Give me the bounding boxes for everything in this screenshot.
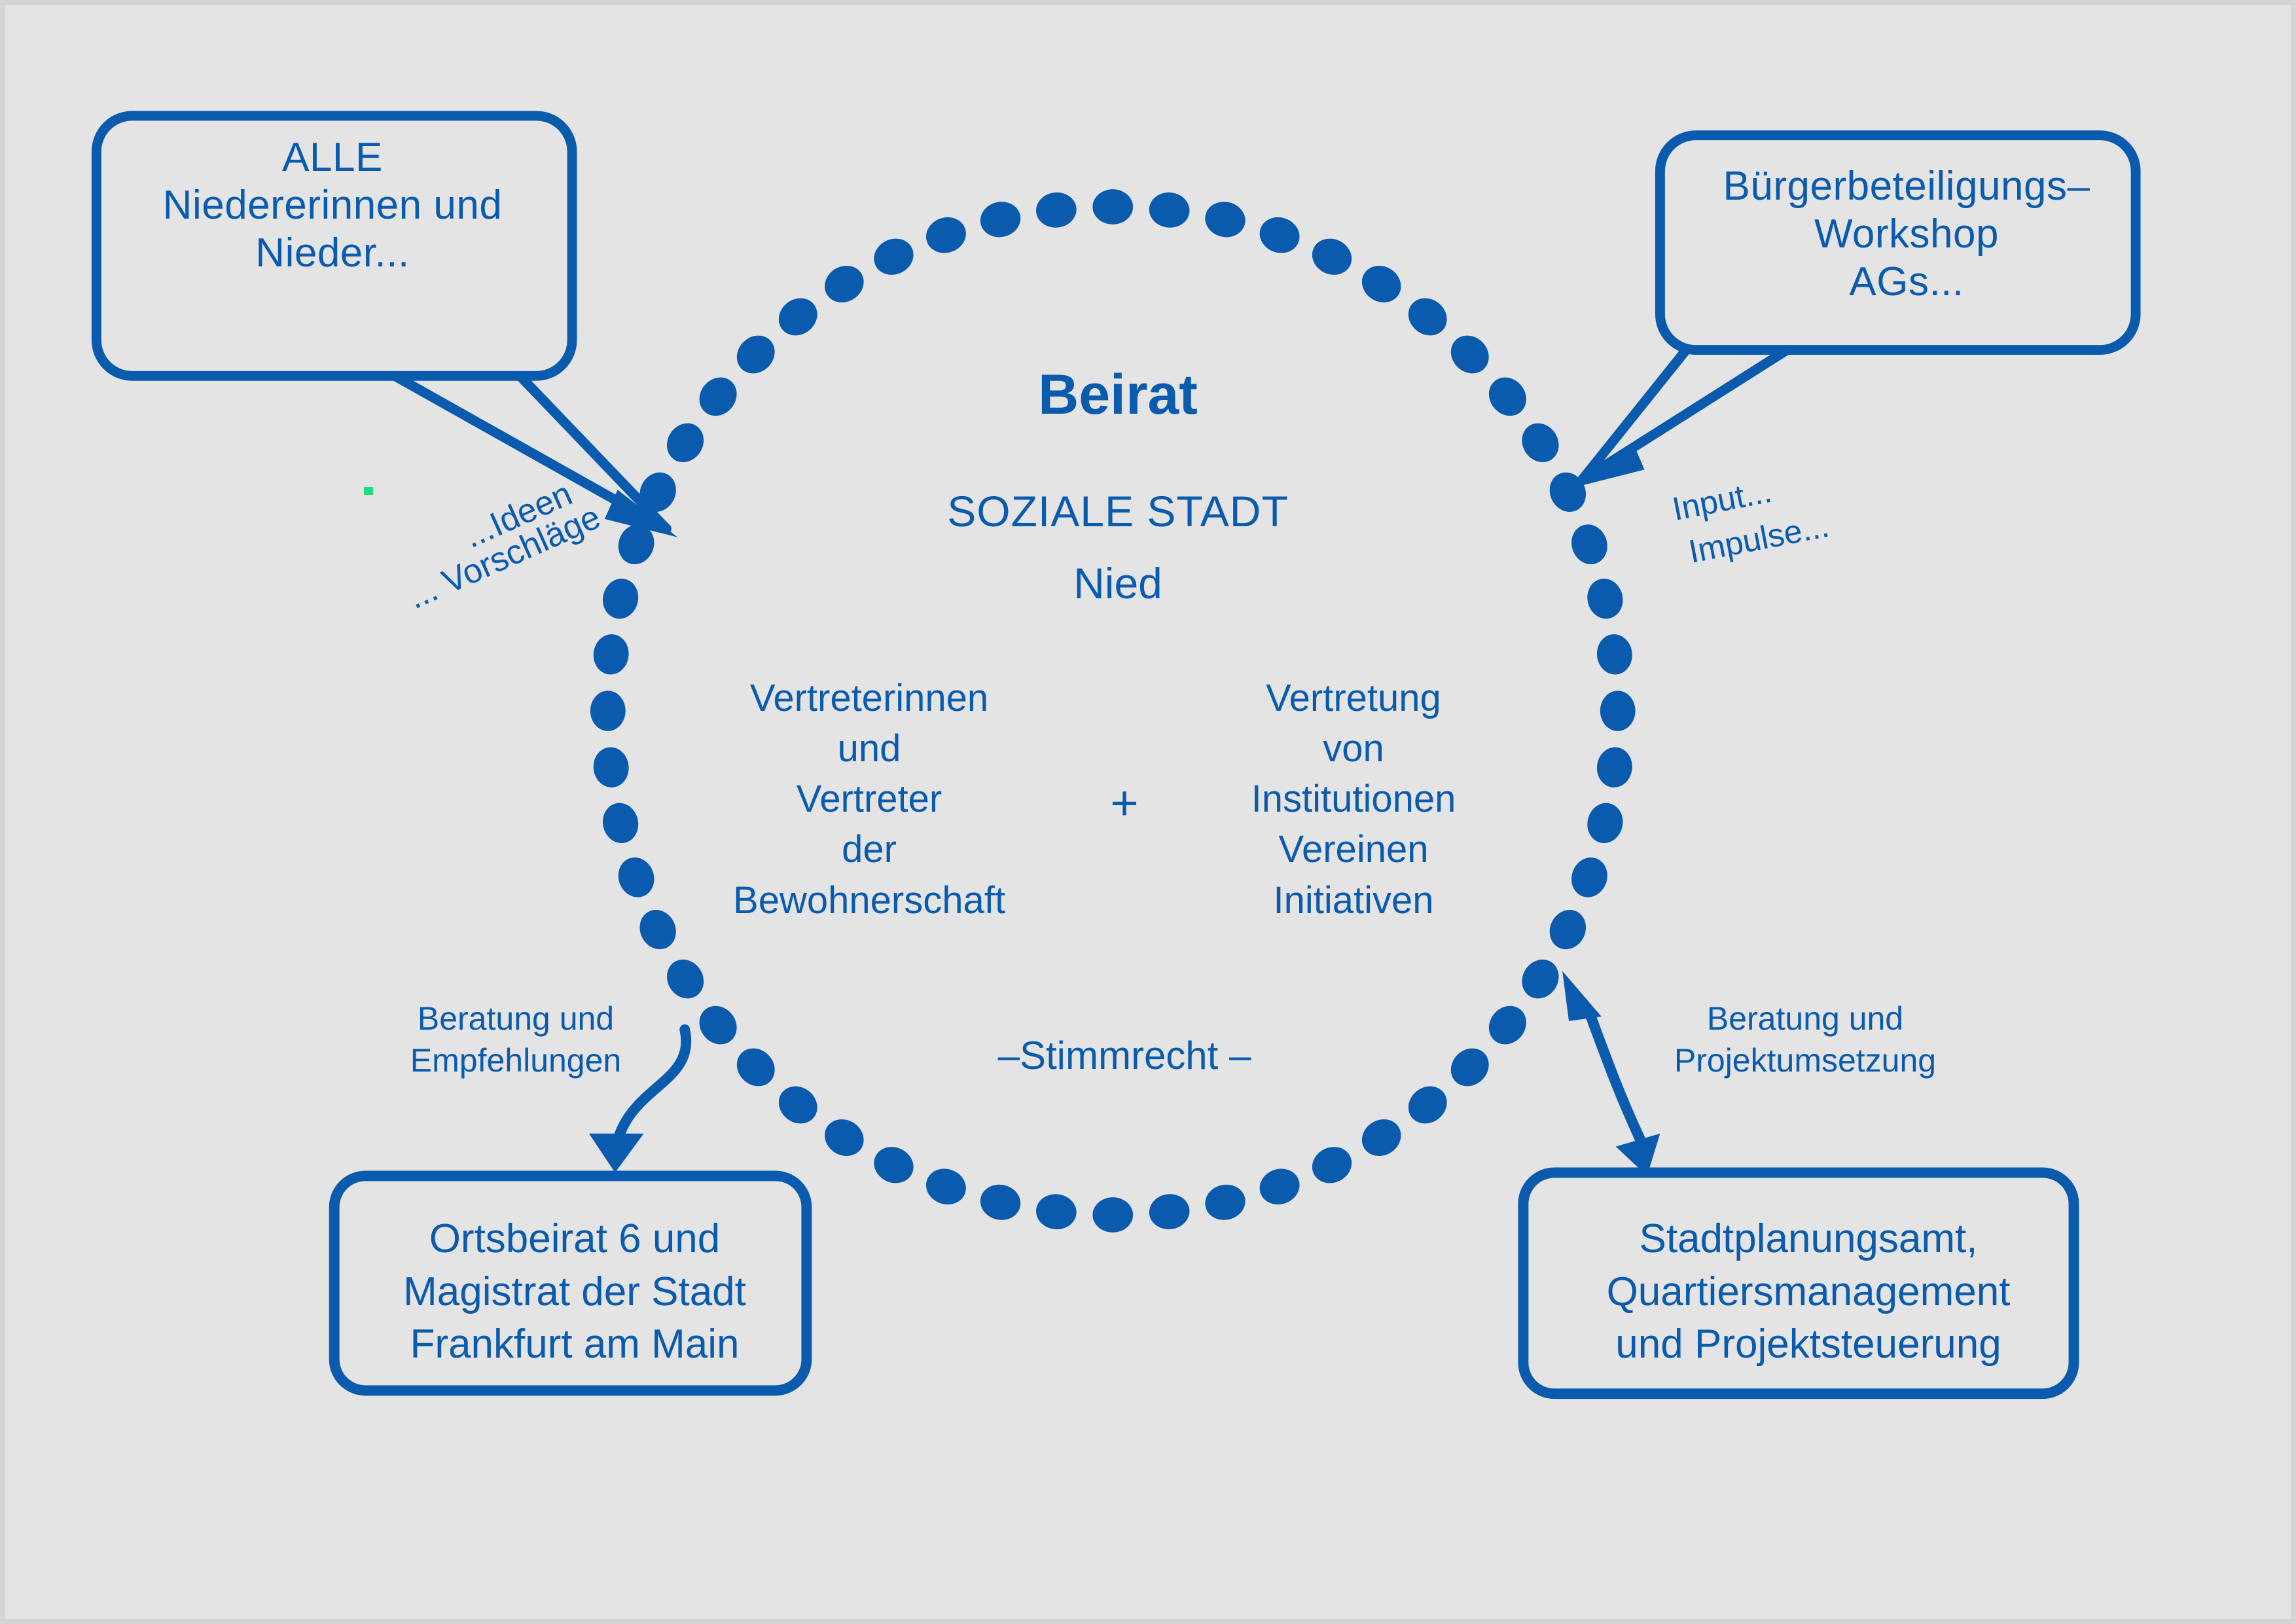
ring-dot (1515, 416, 1566, 469)
bubble-top-left-label: ALLE Niedererinnen und Nieder... (103, 134, 562, 277)
green-marker-dot (364, 487, 373, 495)
ring-dot (1481, 370, 1534, 424)
ring-dot (817, 259, 870, 310)
ring-dot (1355, 1112, 1408, 1163)
ring-dot (1595, 632, 1634, 676)
ring-dot (1355, 259, 1408, 310)
ring-dot (1566, 852, 1613, 902)
box-bottom-right-label: Stadtplanungsamt, Quartiersmanagement un… (1537, 1213, 2080, 1371)
ring-dot (1202, 1181, 1249, 1224)
ring-dot (1092, 1197, 1133, 1233)
ring-dot (592, 746, 631, 789)
ring-dot (1443, 328, 1497, 381)
ring-dot (1443, 1041, 1497, 1094)
annotation-beratung-empfehlungen: Beratung und Empfehlungen (378, 998, 653, 1081)
box-bottom-left-label: Ortsbeirat 6 und Magistrat der Stadt Fra… (346, 1213, 804, 1371)
center-left-column: Vertreterinnen und Vertreter der Bewohne… (666, 673, 1072, 926)
ring-dot (592, 632, 631, 676)
ring-dot (1255, 212, 1304, 259)
ring-dot (692, 998, 745, 1052)
ring-dot (1147, 1192, 1191, 1231)
center-subtitle-line1: SOZIALE STADT (810, 486, 1426, 537)
ring-dot (1147, 190, 1191, 230)
ring-dot (921, 212, 971, 259)
ring-dot (977, 198, 1024, 241)
ring-dot (1401, 291, 1454, 343)
ring-dot (1595, 746, 1634, 789)
ring-dot (771, 1079, 825, 1131)
ring-dot (1583, 799, 1626, 846)
ring-dot (1092, 189, 1133, 225)
arrow-head-down (589, 1134, 644, 1173)
annotation-beratung-projektumsetzung: Beratung und Projektumsetzung (1635, 998, 1975, 1081)
ring-dot (921, 1163, 971, 1210)
ring-dot (1255, 1163, 1304, 1210)
ring-dot (1543, 904, 1592, 956)
arrow-head-up-left (1562, 971, 1602, 1021)
center-subtitle-line2: Nied (810, 558, 1426, 609)
ring-dot (729, 1041, 783, 1094)
ring-dot (599, 799, 642, 846)
ring-dot (1481, 998, 1534, 1052)
ring-dot (1515, 952, 1566, 1005)
ring-dot (1566, 520, 1613, 569)
ring-dot (1306, 232, 1358, 281)
ring-dot (1583, 575, 1626, 623)
page-title: Beirat (810, 362, 1426, 428)
stimmrecht-note: –Stimmrecht – (922, 1033, 1327, 1079)
diagram-canvas: ALLE Niedererinnen und Nieder... Bürgerb… (0, 0, 2296, 1624)
ring-dot (1600, 691, 1636, 731)
ring-dot (660, 952, 711, 1005)
ring-dot (868, 1140, 920, 1189)
ring-dot (729, 328, 783, 381)
ring-dot (977, 1181, 1024, 1224)
ring-dot (1306, 1140, 1358, 1189)
bubble-top-right-label: Bürgerbeteiligungs– Workshop AGs... (1681, 162, 2132, 306)
ring-dot (1034, 1192, 1078, 1231)
ring-dot (1034, 190, 1078, 230)
ring-dot (590, 691, 626, 731)
plus-symbol: + (1079, 774, 1170, 831)
ring-dot (613, 852, 660, 902)
center-right-column: Vertretung von Institutionen Vereinen In… (1177, 673, 1530, 926)
ring-dot (1202, 198, 1249, 241)
ring-dot (771, 291, 825, 343)
ring-dot (868, 232, 920, 281)
ring-dot (692, 370, 745, 424)
ring-dot (1401, 1079, 1454, 1131)
ring-dot (817, 1112, 870, 1163)
ring-dot (599, 575, 642, 623)
